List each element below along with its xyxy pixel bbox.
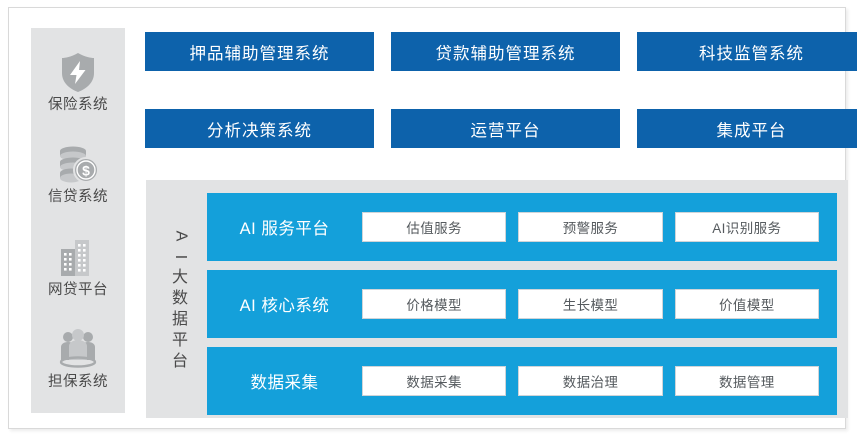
layer-chip-group: 价格模型 生长模型 价值模型 bbox=[362, 289, 837, 319]
vertical-label-char: A bbox=[172, 231, 188, 242]
buildings-icon bbox=[55, 235, 101, 279]
platform-layers: AI 服务平台 估值服务 预警服务 AI识别服务 AI 核心系统 价格模型 生长… bbox=[207, 193, 837, 415]
vertical-label-char: 大 bbox=[172, 270, 188, 286]
sidebar-item-guarantee[interactable]: 担保系统 bbox=[31, 327, 125, 391]
system-button-analysis-decision[interactable]: 分析决策系统 bbox=[145, 109, 374, 148]
architecture-diagram: 保险系统 $ bbox=[0, 0, 857, 444]
shield-bolt-icon bbox=[55, 50, 101, 94]
system-row-second: 分析决策系统 运营平台 集成平台 bbox=[145, 109, 857, 148]
chip-valuation-service[interactable]: 估值服务 bbox=[362, 212, 506, 242]
ai-bigdata-platform-panel: A I 大 数 据 平 台 AI 服务平台 估值服务 预警服务 AI识别服务 bbox=[146, 180, 848, 418]
coins-dollar-icon: $ bbox=[55, 142, 101, 186]
chip-ai-recognition-service[interactable]: AI识别服务 bbox=[675, 212, 819, 242]
diagram-frame: 保险系统 $ bbox=[8, 7, 846, 429]
chip-data-governance[interactable]: 数据治理 bbox=[518, 366, 662, 396]
chip-price-model[interactable]: 价格模型 bbox=[362, 289, 506, 319]
chip-data-collection[interactable]: 数据采集 bbox=[362, 366, 506, 396]
system-button-collateral-management[interactable]: 押品辅助管理系统 bbox=[145, 32, 374, 71]
vertical-label-char: 据 bbox=[172, 312, 188, 328]
vertical-label-char: I bbox=[172, 255, 188, 259]
platform-vertical-label: A I 大 数 据 平 台 bbox=[160, 194, 200, 404]
vertical-label-char: 台 bbox=[172, 354, 188, 370]
sidebar-item-label: 保险系统 bbox=[48, 98, 108, 114]
svg-text:$: $ bbox=[82, 163, 90, 179]
layer-title: AI 服务平台 bbox=[207, 215, 362, 239]
layer-ai-core-system: AI 核心系统 价格模型 生长模型 价值模型 bbox=[207, 270, 837, 338]
sidebar-item-label: 担保系统 bbox=[48, 375, 108, 391]
layer-chip-group: 数据采集 数据治理 数据管理 bbox=[362, 366, 837, 396]
chip-value-model[interactable]: 价值模型 bbox=[675, 289, 819, 319]
vertical-label-char: 数 bbox=[172, 291, 188, 307]
layer-chip-group: 估值服务 预警服务 AI识别服务 bbox=[362, 212, 837, 242]
chip-alert-service[interactable]: 预警服务 bbox=[518, 212, 662, 242]
system-row-top: 押品辅助管理系统 贷款辅助管理系统 科技监管系统 bbox=[145, 32, 857, 71]
chip-growth-model[interactable]: 生长模型 bbox=[518, 289, 662, 319]
layer-ai-service-platform: AI 服务平台 估值服务 预警服务 AI识别服务 bbox=[207, 193, 837, 261]
layer-data-collection: 数据采集 数据采集 数据治理 数据管理 bbox=[207, 347, 837, 415]
sidebar-item-label: 信贷系统 bbox=[48, 190, 108, 206]
sidebar-item-label: 网贷平台 bbox=[48, 283, 108, 299]
system-button-loan-management[interactable]: 贷款辅助管理系统 bbox=[391, 32, 620, 71]
layer-title: 数据采集 bbox=[207, 369, 362, 393]
sidebar: 保险系统 $ bbox=[31, 28, 125, 413]
layer-title: AI 核心系统 bbox=[207, 292, 362, 316]
system-button-integration-platform[interactable]: 集成平台 bbox=[637, 109, 857, 148]
sidebar-item-insurance[interactable]: 保险系统 bbox=[31, 50, 125, 114]
people-group-icon bbox=[55, 327, 101, 371]
vertical-label-char: 平 bbox=[172, 333, 188, 349]
system-button-operation-platform[interactable]: 运营平台 bbox=[391, 109, 620, 148]
sidebar-item-credit[interactable]: $ 信贷系统 bbox=[31, 142, 125, 206]
chip-data-management[interactable]: 数据管理 bbox=[675, 366, 819, 396]
system-button-tech-supervision[interactable]: 科技监管系统 bbox=[637, 32, 857, 71]
sidebar-item-online-loan[interactable]: 网贷平台 bbox=[31, 235, 125, 299]
